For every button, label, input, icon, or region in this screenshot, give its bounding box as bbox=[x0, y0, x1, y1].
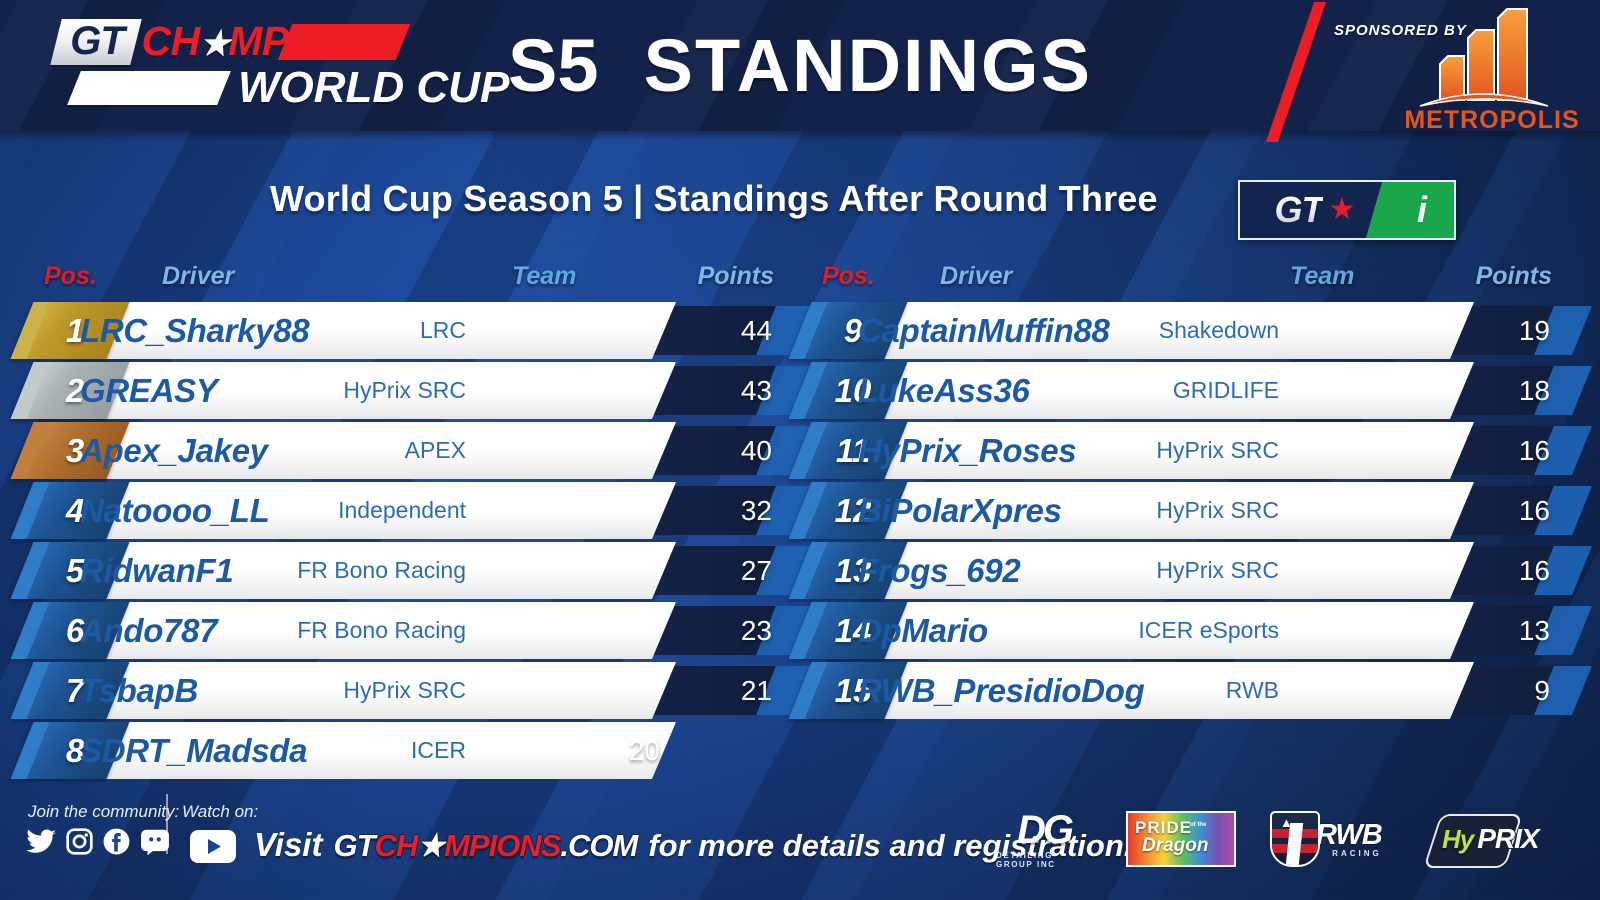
gt-i-i-text: i bbox=[1417, 189, 1427, 231]
standings-graphic: GT CH★MPIONS WORLD CUP S5 STANDINGS SPON… bbox=[0, 0, 1600, 900]
standings-row: 9CaptainMuffin88Shakedown19 bbox=[800, 302, 1572, 359]
standings-row: 2GREASYHyPrix SRC43 bbox=[22, 362, 794, 419]
join-community-label: Join the community: bbox=[28, 802, 179, 822]
standings-subtitle: World Cup Season 5 | Standings After Rou… bbox=[270, 178, 1158, 220]
standings-row: 14DpMarioICER eSports13 bbox=[800, 602, 1572, 659]
standings-row: 6Ando787FR Bono Racing23 bbox=[22, 602, 794, 659]
driver-name: LukeAss36 bbox=[858, 362, 1030, 419]
standings-column-left: Pos. Driver Team Points 1LRC_Sharky88LRC… bbox=[22, 262, 794, 782]
driver-name: Frogs_692 bbox=[858, 542, 1020, 599]
points-value: 13 bbox=[1519, 602, 1550, 659]
points-value: 20 bbox=[629, 722, 660, 779]
sponsor-logo-hyprix: Hy PRIX bbox=[1432, 812, 1578, 866]
pride-ofthe: of the bbox=[1190, 822, 1206, 828]
rwb-shield-icon: ▲ bbox=[1270, 811, 1320, 867]
header-team: Team bbox=[512, 262, 576, 291]
rwb-wordmark: RWB bbox=[1316, 821, 1382, 849]
driver-name: GREASY bbox=[80, 362, 218, 419]
driver-name: BiPolarXpres bbox=[858, 482, 1062, 539]
team-name: RWB bbox=[1226, 662, 1279, 719]
rwb-subtext: RACING bbox=[1316, 849, 1382, 858]
pride-dragon-script: Dragon bbox=[1142, 835, 1209, 857]
metropolis-wordmark: METROPOLIS bbox=[1404, 106, 1579, 130]
team-name: ICER eSports bbox=[1138, 602, 1279, 659]
team-name: Independent bbox=[338, 482, 466, 539]
instagram-icon[interactable] bbox=[66, 828, 93, 855]
header-driver: Driver bbox=[162, 262, 234, 291]
team-name: HyPrix SRC bbox=[1156, 422, 1279, 479]
twitter-icon[interactable] bbox=[26, 829, 56, 855]
points-value: 9 bbox=[1534, 662, 1550, 719]
team-name: FR Bono Racing bbox=[297, 602, 466, 659]
dg-wordmark: DG bbox=[1017, 810, 1071, 850]
driver-name: LRC_Sharky88 bbox=[80, 302, 309, 359]
sponsor-logo-pride-of-the-dragon: PRIDE of the Dragon bbox=[1126, 811, 1236, 867]
watch-on-label: Watch on: bbox=[182, 802, 258, 822]
driver-name: RidwanF1 bbox=[80, 542, 233, 599]
points-value: 23 bbox=[741, 602, 772, 659]
header-driver: Driver bbox=[940, 262, 1012, 291]
points-value: 16 bbox=[1519, 422, 1550, 479]
team-name: HyPrix SRC bbox=[1156, 482, 1279, 539]
team-name: HyPrix SRC bbox=[343, 362, 466, 419]
cta-mpions: MPIONS bbox=[444, 828, 560, 863]
youtube-icon[interactable] bbox=[190, 830, 236, 868]
header-points: Points bbox=[1476, 262, 1552, 291]
hyprix-prix: PRIX bbox=[1477, 823, 1538, 855]
footer: Join the community: Watch on: Visit GTCH… bbox=[0, 790, 1600, 900]
standings-row: 5RidwanF1FR Bono Racing27 bbox=[22, 542, 794, 599]
driver-name: Ando787 bbox=[80, 602, 217, 659]
points-value: 19 bbox=[1519, 302, 1550, 359]
table-header-right: Pos. Driver Team Points bbox=[800, 262, 1572, 302]
cta-visit-word: Visit bbox=[254, 826, 322, 864]
points-value: 43 bbox=[741, 362, 772, 419]
driver-name: Natoooo_LL bbox=[80, 482, 269, 539]
cta-star-icon: ★ bbox=[417, 828, 444, 863]
team-name: HyPrix SRC bbox=[1156, 542, 1279, 599]
standings-column-right: Pos. Driver Team Points 9CaptainMuffin88… bbox=[800, 262, 1572, 722]
points-value: 44 bbox=[741, 302, 772, 359]
gt-i-gt-text: GT bbox=[1275, 189, 1323, 231]
driver-name: CaptainMuffin88 bbox=[858, 302, 1110, 359]
sponsor-logo-dg: DG DETAILING GROUP INC bbox=[996, 808, 1092, 870]
standings-rows-left: 1LRC_Sharky88LRC442GREASYHyPrix SRC433Ap… bbox=[22, 302, 794, 779]
sponsor-logo-rwb-racing: ▲ RWB RACING bbox=[1270, 810, 1398, 868]
cta-gt: GT bbox=[333, 828, 374, 863]
header-shadow bbox=[0, 131, 1600, 141]
standings-row: 10LukeAss36GRIDLIFE18 bbox=[800, 362, 1572, 419]
driver-name: Apex_Jakey bbox=[80, 422, 268, 479]
season-tag: S5 bbox=[508, 24, 599, 107]
header-pos: Pos. bbox=[44, 262, 97, 291]
header-pos: Pos. bbox=[822, 262, 875, 291]
gt-i-star-icon: ★ bbox=[1329, 195, 1356, 225]
standings-row: 12BiPolarXpresHyPrix SRC16 bbox=[800, 482, 1572, 539]
standings-row: 7TsbapBHyPrix SRC21 bbox=[22, 662, 794, 719]
team-name: FR Bono Racing bbox=[297, 542, 466, 599]
team-name: Shakedown bbox=[1159, 302, 1279, 359]
standings-row: 8SDRT_MadsdaICER20 bbox=[22, 722, 794, 779]
points-value: 16 bbox=[1519, 482, 1550, 539]
driver-name: DpMario bbox=[858, 602, 988, 659]
points-value: 21 bbox=[741, 662, 772, 719]
gt-i-right: i bbox=[1390, 182, 1454, 238]
driver-name: SDRT_Madsda bbox=[80, 722, 307, 779]
team-name: GRIDLIFE bbox=[1173, 362, 1279, 419]
points-value: 27 bbox=[741, 542, 772, 599]
social-links bbox=[26, 828, 170, 855]
header-points: Points bbox=[698, 262, 774, 291]
footer-sponsor-logos: DG DETAILING GROUP INC PRIDE of the Drag… bbox=[996, 808, 1578, 870]
standings-row: 11HyPrix_RosesHyPrix SRC16 bbox=[800, 422, 1572, 479]
standings-row: 4Natoooo_LLIndependent32 bbox=[22, 482, 794, 539]
cta-com: .COM bbox=[560, 828, 637, 863]
points-value: 32 bbox=[741, 482, 772, 539]
standings-row: 3Apex_JakeyAPEX40 bbox=[22, 422, 794, 479]
discord-icon[interactable] bbox=[140, 828, 170, 855]
gt-i-series-logo: GT ★ i bbox=[1238, 180, 1456, 240]
title-text: STANDINGS bbox=[644, 24, 1092, 107]
table-header-left: Pos. Driver Team Points bbox=[22, 262, 794, 302]
metropolis-logo: METROPOLIS bbox=[1404, 8, 1580, 130]
standings-row: 1LRC_Sharky88LRC44 bbox=[22, 302, 794, 359]
driver-name: HyPrix_Roses bbox=[858, 422, 1076, 479]
team-name: LRC bbox=[420, 302, 466, 359]
hyprix-hy: Hy bbox=[1442, 824, 1473, 855]
team-name: APEX bbox=[405, 422, 466, 479]
header-team: Team bbox=[1290, 262, 1354, 291]
facebook-icon[interactable] bbox=[103, 828, 130, 855]
points-value: 40 bbox=[741, 422, 772, 479]
cta-brand[interactable]: GTCH★MPIONS.COM bbox=[333, 828, 637, 864]
standings-rows-right: 9CaptainMuffin88Shakedown1910LukeAss36GR… bbox=[800, 302, 1572, 719]
driver-name: TsbapB bbox=[80, 662, 198, 719]
points-value: 16 bbox=[1519, 542, 1550, 599]
team-name: HyPrix SRC bbox=[343, 662, 466, 719]
header-sponsor-block: SPONSORED BY METROPOLIS bbox=[1276, 6, 1576, 131]
points-value: 18 bbox=[1519, 362, 1550, 419]
driver-name: RWB_PresidioDog bbox=[858, 662, 1144, 719]
standings-row: 15RWB_PresidioDogRWB9 bbox=[800, 662, 1572, 719]
standings-row: 13Frogs_692HyPrix SRC16 bbox=[800, 542, 1572, 599]
team-name: ICER bbox=[411, 722, 466, 779]
cta-ch: CH bbox=[375, 828, 418, 863]
dg-subtext: DETAILING GROUP INC bbox=[996, 851, 1092, 869]
eagle-icon: ▲ bbox=[1280, 815, 1293, 830]
